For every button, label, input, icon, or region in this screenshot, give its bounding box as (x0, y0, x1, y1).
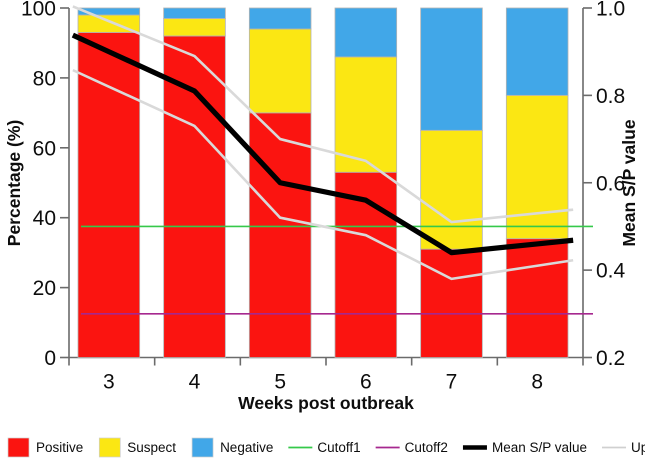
legend-item: Cutoff1 (288, 440, 360, 455)
right-axis-title: Mean S/P value (619, 119, 639, 246)
x-tick-label: 7 (446, 371, 458, 394)
legend-item: Mean S/P value (463, 440, 587, 455)
legend-swatch-icon (8, 438, 29, 457)
x-tick-label: 6 (360, 371, 372, 394)
bar-segment-negative (506, 8, 568, 95)
x-tick-label: 4 (189, 371, 201, 394)
left-axis: 020406080100 Percentage (%) (4, 0, 69, 370)
legend-label: Negative (220, 440, 273, 455)
left-tick-label: 20 (33, 277, 56, 300)
chart-legend: PositiveSuspectNegativeCutoff1Cutoff2Mea… (8, 438, 645, 457)
legend-label: Cutoff1 (317, 440, 360, 455)
legend-label: Cutoff2 (405, 440, 448, 455)
right-tick-label: 0.8 (596, 85, 625, 108)
right-tick-label: 0.2 (596, 347, 625, 370)
bar-segment-positive (249, 113, 311, 358)
legend-swatch-icon (99, 438, 120, 457)
left-tick-label: 0 (44, 347, 56, 370)
bar-segment-suspect (164, 18, 226, 35)
bar-segment-positive (421, 249, 483, 357)
x-axis-ticks: 345678 (69, 358, 583, 394)
right-tick-label: 0.4 (596, 260, 626, 283)
left-axis-title: Percentage (%) (4, 120, 24, 246)
bar-segment-negative (335, 8, 397, 57)
bar-segment-positive (78, 32, 140, 357)
bar-segment-suspect (421, 130, 483, 249)
legend-label: Suspect (127, 440, 176, 455)
bar-segment-negative (421, 8, 483, 130)
legend-item: Negative (192, 438, 273, 457)
bar-segment-suspect (249, 29, 311, 113)
right-tick-label: 1.0 (596, 0, 625, 21)
x-axis-title: Weeks post outbreak (238, 393, 414, 413)
x-tick-label: 3 (103, 371, 115, 394)
legend-swatch-icon (192, 438, 213, 457)
x-tick-label: 5 (274, 371, 286, 394)
legend-item: Suspect (99, 438, 176, 457)
stacked-bar-line-chart: 020406080100 Percentage (%) 0.20.40.60.8… (0, 0, 645, 463)
legend-label: Positive (36, 440, 83, 455)
bar-segment-negative (164, 8, 226, 18)
plot-area (69, 8, 583, 358)
bar-segment-positive (164, 36, 226, 358)
left-tick-label: 100 (21, 0, 56, 21)
legend-label: Upper CL (631, 440, 645, 455)
legend-item: Cutoff2 (376, 440, 448, 455)
legend-item: Upper CL (602, 440, 645, 455)
x-tick-label: 8 (531, 371, 543, 394)
chart-container: 020406080100 Percentage (%) 0.20.40.60.8… (0, 0, 645, 463)
x-axis: 345678 Weeks post outbreak (69, 358, 583, 414)
legend-label: Mean S/P value (492, 440, 587, 455)
left-tick-label: 40 (33, 207, 56, 230)
left-axis-ticks: 020406080100 (21, 0, 69, 370)
bar-segment-negative (249, 8, 311, 29)
left-tick-label: 80 (33, 67, 56, 90)
bar-segment-suspect (506, 95, 568, 238)
bar-segment-positive (506, 239, 568, 358)
left-tick-label: 60 (33, 137, 56, 160)
legend-item: Positive (8, 438, 83, 457)
